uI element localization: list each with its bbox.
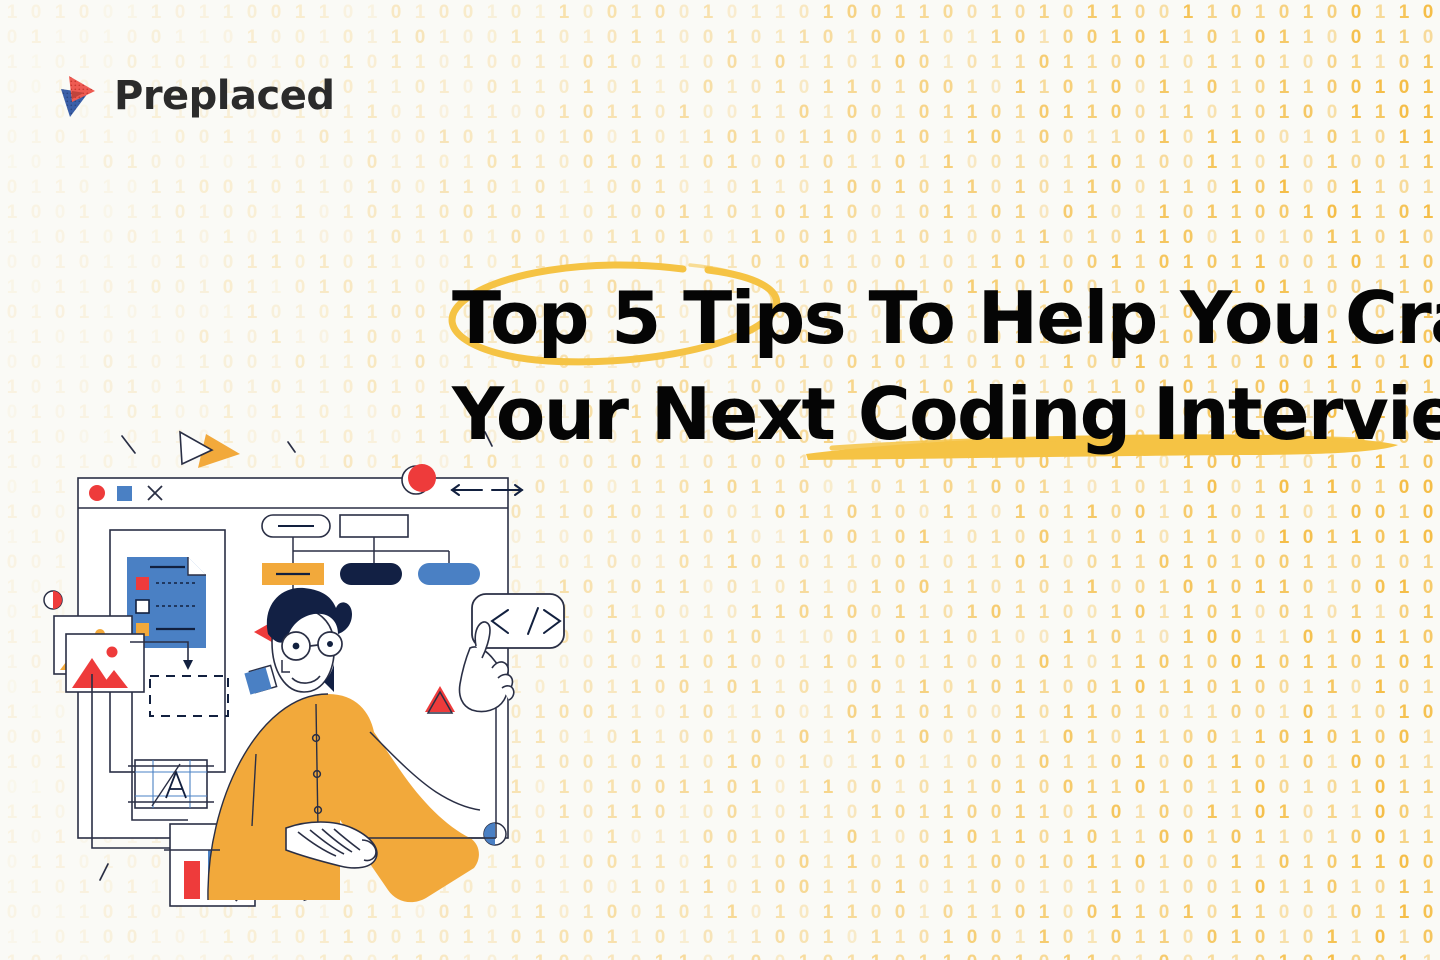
logo-wordmark: Preplaced bbox=[114, 73, 334, 119]
red-circle-dot bbox=[89, 485, 105, 501]
red-half-circle-shape bbox=[44, 591, 62, 609]
headline-block: Top 5 Tips To Help You Crack Your Next C… bbox=[452, 272, 1392, 460]
preplaced-double-triangle-logo-icon bbox=[58, 72, 100, 120]
blue-half-circle-shape bbox=[484, 823, 506, 845]
typography-glyph-card bbox=[128, 760, 214, 808]
banner-canvas: 1010011011001101010010110010010110100110… bbox=[0, 0, 1440, 960]
headline-line-1: Top 5 Tips To Help You Crack bbox=[452, 272, 1392, 364]
headline-line-2: Your Next Coding Interview. bbox=[452, 368, 1392, 460]
paper-plane-shape bbox=[180, 432, 240, 468]
preplaced-logo[interactable]: Preplaced bbox=[58, 72, 334, 120]
blue-square-dot bbox=[117, 486, 132, 501]
developer-at-workspace-illustration bbox=[40, 420, 620, 920]
